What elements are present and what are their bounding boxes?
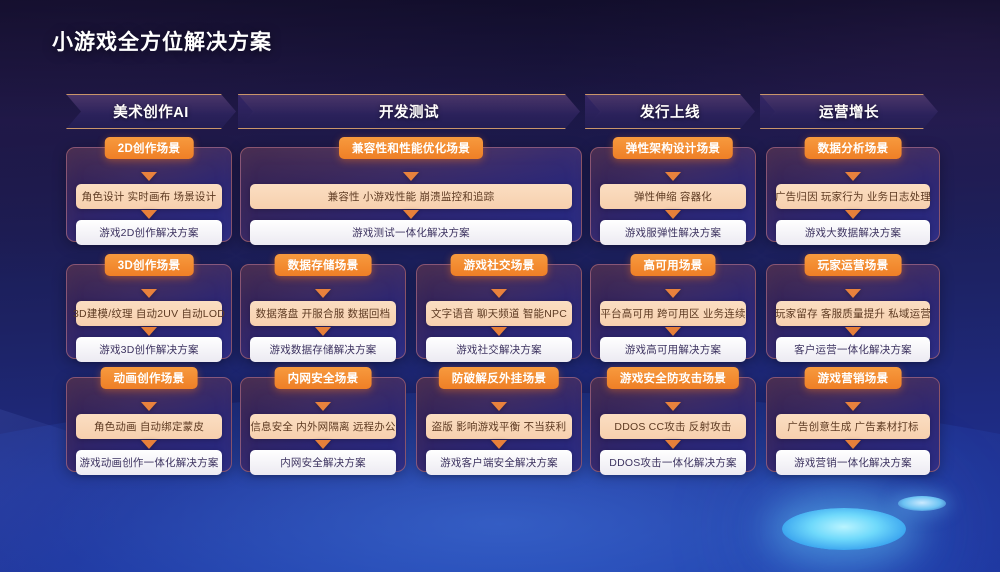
panel-capabilities: DDOS CC攻击 反射攻击 <box>600 414 746 439</box>
flow-arrow-icon <box>845 440 861 449</box>
flow-arrow-icon <box>845 172 861 181</box>
panel-title-pill: 兼容性和性能优化场景 <box>339 137 483 159</box>
panel-title-pill: 数据分析场景 <box>805 137 902 159</box>
panel-game-social[interactable]: 游戏社交场景 文字语音 聊天频道 智能NPC 游戏社交解决方案 <box>416 264 582 359</box>
panel-2d-creation[interactable]: 2D创作场景 角色设计 实时画布 场景设计 游戏2D创作解决方案 <box>66 147 232 242</box>
header-tab-label: 开发测试 <box>379 101 439 122</box>
header-tab-label: 运营增长 <box>819 101 879 122</box>
panel-capabilities: 3D建模/纹理 自动2UV 自动LOD <box>76 301 222 326</box>
panel-solution: 游戏营销一体化解决方案 <box>776 450 930 475</box>
header-tab-label: 美术创作AI <box>113 101 189 122</box>
panel-capabilities: 数据落盘 开服合服 数据回档 <box>250 301 396 326</box>
header-tab-label: 发行上线 <box>640 101 700 122</box>
flow-arrow-icon <box>315 289 331 298</box>
panel-title-pill: 动画创作场景 <box>101 367 198 389</box>
panel-capabilities: 广告创意生成 广告素材打标 <box>776 414 930 439</box>
panel-high-availability[interactable]: 高可用场景 平台高可用 跨可用区 业务连续 游戏高可用解决方案 <box>590 264 756 359</box>
flow-arrow-icon <box>845 289 861 298</box>
panel-title-pill: 弹性架构设计场景 <box>613 137 733 159</box>
flow-arrow-icon <box>845 327 861 336</box>
panel-title-pill: 游戏社交场景 <box>451 254 548 276</box>
header-tab-growth: 运营增长 <box>760 94 938 129</box>
flow-arrow-icon <box>491 289 507 298</box>
panel-title-pill: 游戏安全防攻击场景 <box>607 367 739 389</box>
panel-compatibility-performance[interactable]: 兼容性和性能优化场景 兼容性 小游戏性能 崩溃监控和追踪 游戏测试一体化解决方案 <box>240 147 582 242</box>
panel-capabilities: 平台高可用 跨可用区 业务连续 <box>600 301 746 326</box>
flow-arrow-icon <box>141 402 157 411</box>
solution-grid: 2D创作场景 角色设计 实时画布 场景设计 游戏2D创作解决方案 3D创作场景 … <box>66 136 938 476</box>
panel-title-pill: 玩家运营场景 <box>805 254 902 276</box>
glow-ellipse-small-decoration <box>898 496 946 511</box>
panel-title-pill: 防破解反外挂场景 <box>439 367 559 389</box>
panel-title-pill: 数据存储场景 <box>275 254 372 276</box>
flow-arrow-icon <box>845 210 861 219</box>
panel-anti-cheat[interactable]: 防破解反外挂场景 盗版 影响游戏平衡 不当获利 游戏客户端安全解决方案 <box>416 377 582 472</box>
panel-solution: 游戏3D创作解决方案 <box>76 337 222 362</box>
panel-capabilities: 广告归因 玩家行为 业务日志处理 <box>776 184 930 209</box>
panel-solution: 游戏2D创作解决方案 <box>76 220 222 245</box>
stage-header-bar: 美术创作AI 开发测试 发行上线 运营增长 <box>66 94 938 127</box>
flow-arrow-icon <box>665 327 681 336</box>
glow-ellipse-decoration <box>782 508 906 550</box>
panel-animation-creation[interactable]: 动画创作场景 角色动画 自动绑定蒙皮 游戏动画创作一体化解决方案 <box>66 377 232 472</box>
flow-arrow-icon <box>141 440 157 449</box>
flow-arrow-icon <box>141 210 157 219</box>
flow-arrow-icon <box>665 172 681 181</box>
panel-player-operations[interactable]: 玩家运营场景 玩家留存 客服质量提升 私域运营 客户运营一体化解决方案 <box>766 264 940 359</box>
panel-solution: 内网安全解决方案 <box>250 450 396 475</box>
panel-solution: 游戏动画创作一体化解决方案 <box>76 450 222 475</box>
panel-title-pill: 3D创作场景 <box>105 254 194 276</box>
slide-canvas: 小游戏全方位解决方案 美术创作AI 开发测试 发行上线 运营增长 2D创作场景 … <box>0 0 1000 572</box>
flow-arrow-icon <box>141 327 157 336</box>
flow-arrow-icon <box>845 402 861 411</box>
flow-arrow-icon <box>491 440 507 449</box>
panel-solution: 游戏大数据解决方案 <box>776 220 930 245</box>
panel-solution: 游戏高可用解决方案 <box>600 337 746 362</box>
panel-capabilities: 角色动画 自动绑定蒙皮 <box>76 414 222 439</box>
flow-arrow-icon <box>403 172 419 181</box>
flow-arrow-icon <box>315 440 331 449</box>
panel-capabilities: 玩家留存 客服质量提升 私域运营 <box>776 301 930 326</box>
panel-solution: DDOS攻击一体化解决方案 <box>600 450 746 475</box>
flow-arrow-icon <box>665 402 681 411</box>
panel-solution: 游戏数据存储解决方案 <box>250 337 396 362</box>
panel-ddos-protection[interactable]: 游戏安全防攻击场景 DDOS CC攻击 反射攻击 DDOS攻击一体化解决方案 <box>590 377 756 472</box>
flow-arrow-icon <box>403 210 419 219</box>
header-tab-release: 发行上线 <box>585 94 755 129</box>
flow-arrow-icon <box>141 172 157 181</box>
flow-arrow-icon <box>665 210 681 219</box>
header-tab-art-ai: 美术创作AI <box>66 94 236 129</box>
panel-data-storage[interactable]: 数据存储场景 数据落盘 开服合服 数据回档 游戏数据存储解决方案 <box>240 264 406 359</box>
panel-intranet-security[interactable]: 内网安全场景 信息安全 内外网隔离 远程办公 内网安全解决方案 <box>240 377 406 472</box>
flow-arrow-icon <box>665 289 681 298</box>
page-title: 小游戏全方位解决方案 <box>52 26 272 56</box>
header-tab-dev-test: 开发测试 <box>238 94 580 129</box>
panel-game-marketing[interactable]: 游戏营销场景 广告创意生成 广告素材打标 游戏营销一体化解决方案 <box>766 377 940 472</box>
flow-arrow-icon <box>315 327 331 336</box>
panel-elastic-architecture[interactable]: 弹性架构设计场景 弹性伸缩 容器化 游戏服弹性解决方案 <box>590 147 756 242</box>
panel-capabilities: 信息安全 内外网隔离 远程办公 <box>250 414 396 439</box>
panel-capabilities: 文字语音 聊天频道 智能NPC <box>426 301 572 326</box>
panel-capabilities: 角色设计 实时画布 场景设计 <box>76 184 222 209</box>
panel-3d-creation[interactable]: 3D创作场景 3D建模/纹理 自动2UV 自动LOD 游戏3D创作解决方案 <box>66 264 232 359</box>
panel-solution: 客户运营一体化解决方案 <box>776 337 930 362</box>
panel-capabilities: 弹性伸缩 容器化 <box>600 184 746 209</box>
panel-data-analysis[interactable]: 数据分析场景 广告归因 玩家行为 业务日志处理 游戏大数据解决方案 <box>766 147 940 242</box>
flow-arrow-icon <box>665 440 681 449</box>
panel-title-pill: 2D创作场景 <box>105 137 194 159</box>
panel-capabilities: 兼容性 小游戏性能 崩溃监控和追踪 <box>250 184 572 209</box>
panel-solution: 游戏服弹性解决方案 <box>600 220 746 245</box>
panel-solution: 游戏社交解决方案 <box>426 337 572 362</box>
flow-arrow-icon <box>141 289 157 298</box>
panel-capabilities: 盗版 影响游戏平衡 不当获利 <box>426 414 572 439</box>
panel-solution: 游戏客户端安全解决方案 <box>426 450 572 475</box>
panel-title-pill: 高可用场景 <box>631 254 716 276</box>
panel-title-pill: 内网安全场景 <box>275 367 372 389</box>
flow-arrow-icon <box>491 327 507 336</box>
panel-title-pill: 游戏营销场景 <box>805 367 902 389</box>
panel-solution: 游戏测试一体化解决方案 <box>250 220 572 245</box>
flow-arrow-icon <box>491 402 507 411</box>
flow-arrow-icon <box>315 402 331 411</box>
